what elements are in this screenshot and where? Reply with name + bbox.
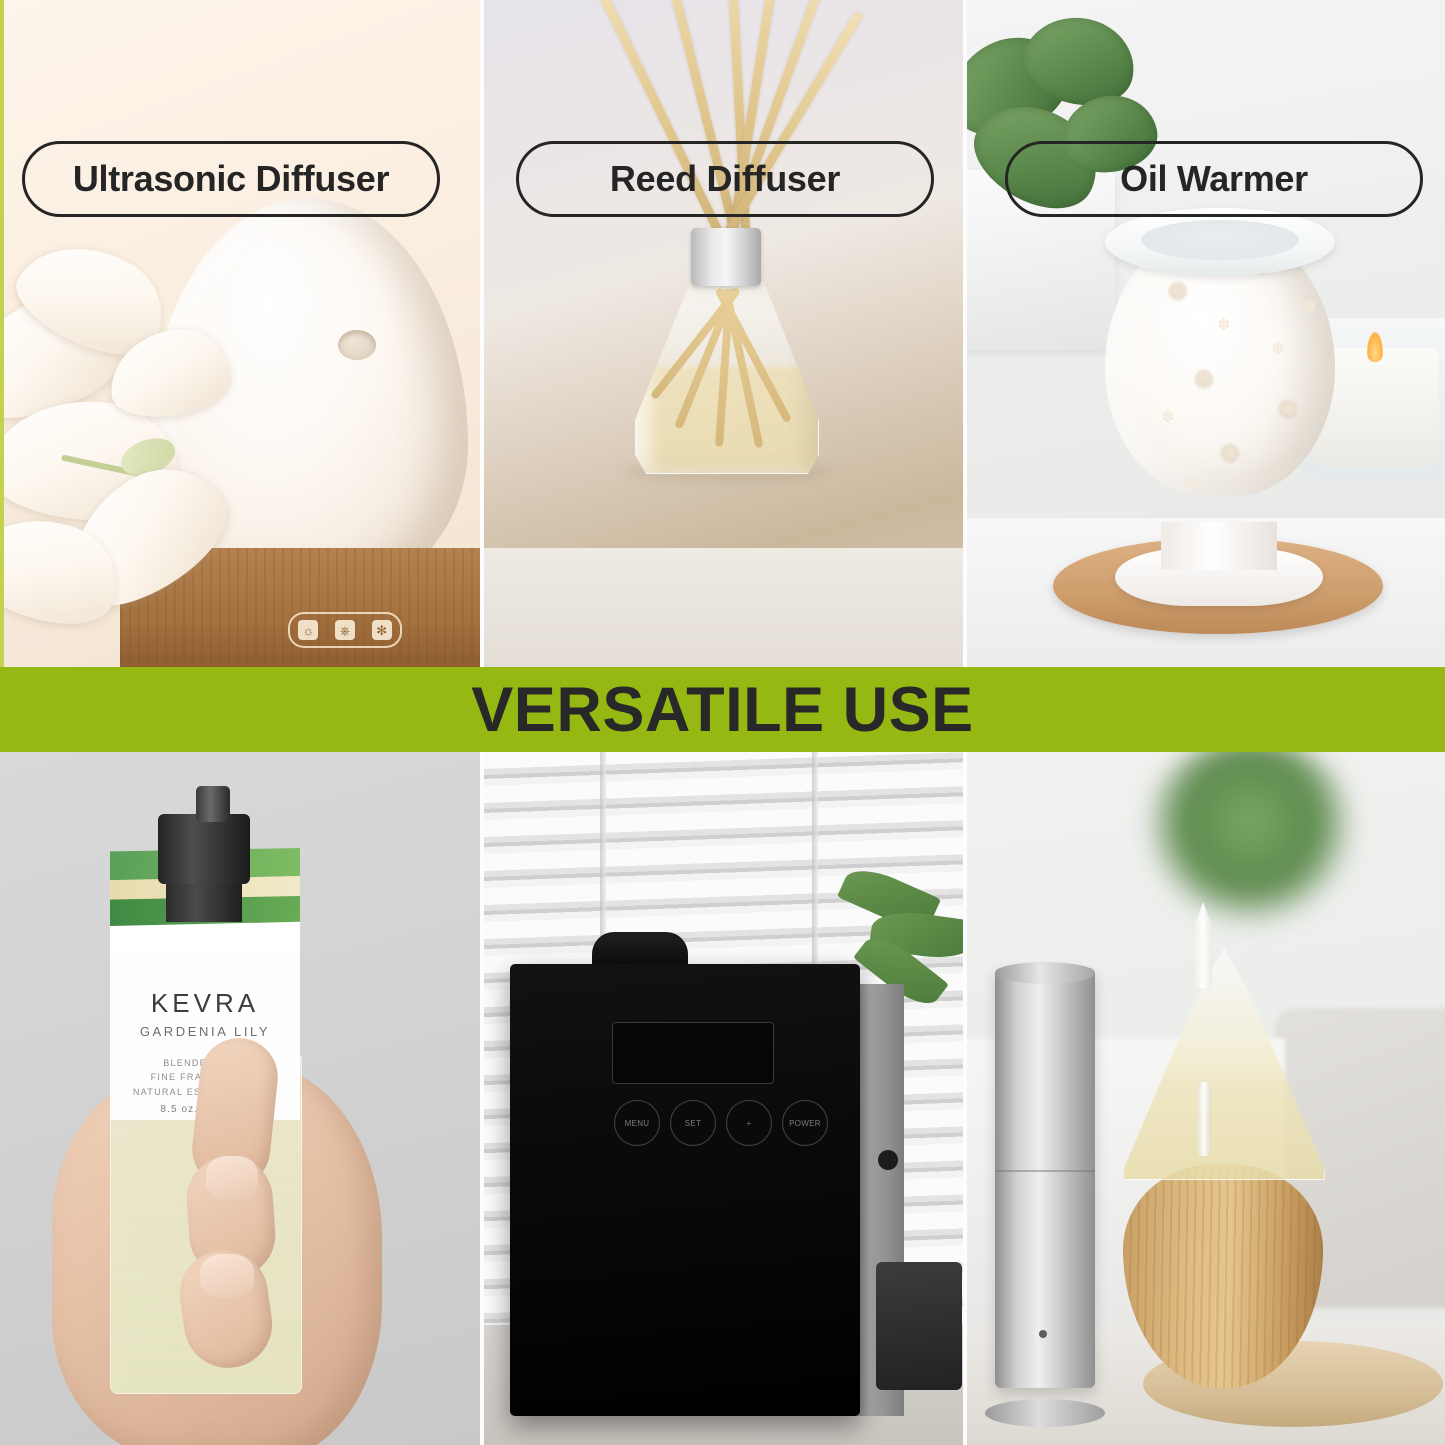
button-label: + — [747, 1119, 752, 1128]
product-scent: GARDENIA LILY — [110, 1024, 300, 1039]
fingernail — [206, 1156, 258, 1200]
button-label: POWER — [789, 1119, 821, 1128]
warmer-dish-well — [1141, 220, 1299, 260]
panel-hvac-scent-system: MENU SET + POWER HVAC Scent Type System — [482, 752, 965, 1445]
label-reed-diffuser: Reed Diffuser — [516, 141, 934, 217]
unit-side-knob[interactable] — [878, 1150, 898, 1170]
panel-reed-diffuser: Reed Diffuser — [482, 0, 965, 668]
warmer-stem — [1161, 522, 1277, 570]
aluminum-nebulizer-top — [995, 962, 1095, 984]
panel-ultrasonic-diffuser: ☼ ⎈ ✻ Ultrasonic Diffuser — [0, 0, 482, 668]
fingernail — [200, 1254, 254, 1298]
flower-motif: ✽ — [1161, 410, 1174, 426]
fan-icon[interactable]: ✻ — [372, 620, 392, 640]
reed-diffuser-bottle — [635, 282, 819, 474]
flower-motif: ✽ — [1303, 300, 1316, 316]
flower-motif: ✽ — [1217, 318, 1230, 334]
panel-divider — [963, 0, 967, 668]
versatile-use-banner: VERSATILE USE — [0, 667, 1445, 752]
oil-reservoir-cup — [876, 1262, 962, 1390]
panel-divider — [480, 752, 484, 1445]
panel-oil-warmer: ✺ ✺ ✺ ✺ ✺ ✽ ✽ ✽ ✽ ✽ Oil Warmer — [965, 0, 1445, 668]
dragonfly-motif: ✺ — [1192, 365, 1216, 393]
unit-button-plus[interactable]: + — [726, 1100, 772, 1146]
spray-nozzle — [196, 786, 230, 822]
unit-display-screen — [612, 1022, 774, 1084]
background-plant — [1145, 752, 1355, 926]
flower-motif: ✽ — [1187, 476, 1200, 492]
bottle-silver-collar — [691, 228, 761, 286]
button-label: SET — [685, 1119, 701, 1128]
nebulizer-indicator-light — [1039, 1330, 1047, 1338]
label-text: Reed Diffuser — [610, 159, 840, 199]
left-green-accent — [0, 0, 4, 668]
panel-fine-mist-spray-bottle: KEVRA GARDENIA LILY BLENDED WITH FINE FR… — [0, 752, 482, 1445]
product-brand: KEVRA — [110, 988, 300, 1019]
label-oil-warmer: Oil Warmer — [1005, 141, 1423, 217]
panel-divider — [963, 752, 967, 1445]
flower-motif: ✽ — [1271, 342, 1284, 358]
aluminum-nebulizer-base — [985, 1399, 1105, 1427]
panel-divider — [480, 0, 484, 668]
aluminum-nebulizer-body — [995, 968, 1095, 1388]
diffuser-mist-vent — [338, 330, 376, 360]
button-label: MENU — [625, 1119, 650, 1128]
aluminum-body-seam — [995, 1170, 1095, 1172]
marble-table — [482, 548, 965, 668]
power-icon[interactable]: ⎈ — [335, 620, 355, 640]
diffuser-control-panel[interactable]: ☼ ⎈ ✻ — [288, 612, 402, 648]
infographic-board: ☼ ⎈ ✻ Ultrasonic Diffuser — [0, 0, 1445, 1445]
panel-waterless-nebulizer-diffuser: Waterless / Nebulizer Diffuser — [965, 752, 1445, 1445]
nebulizer-intake-tube — [1197, 1082, 1211, 1156]
unit-button-menu[interactable]: MENU — [614, 1100, 660, 1146]
spray-pump-cap — [158, 814, 250, 884]
banner-title: VERSATILE USE — [471, 674, 973, 746]
mist-icon[interactable]: ☼ — [298, 620, 318, 640]
unit-button-set[interactable]: SET — [670, 1100, 716, 1146]
label-ultrasonic-diffuser: Ultrasonic Diffuser — [22, 141, 440, 217]
bottom-row: KEVRA GARDENIA LILY BLENDED WITH FINE FR… — [0, 752, 1445, 1445]
top-row: ☼ ⎈ ✻ Ultrasonic Diffuser — [0, 0, 1445, 668]
unit-button-power[interactable]: POWER — [782, 1100, 828, 1146]
label-text: Ultrasonic Diffuser — [73, 159, 389, 199]
label-text: Oil Warmer — [1120, 159, 1308, 199]
